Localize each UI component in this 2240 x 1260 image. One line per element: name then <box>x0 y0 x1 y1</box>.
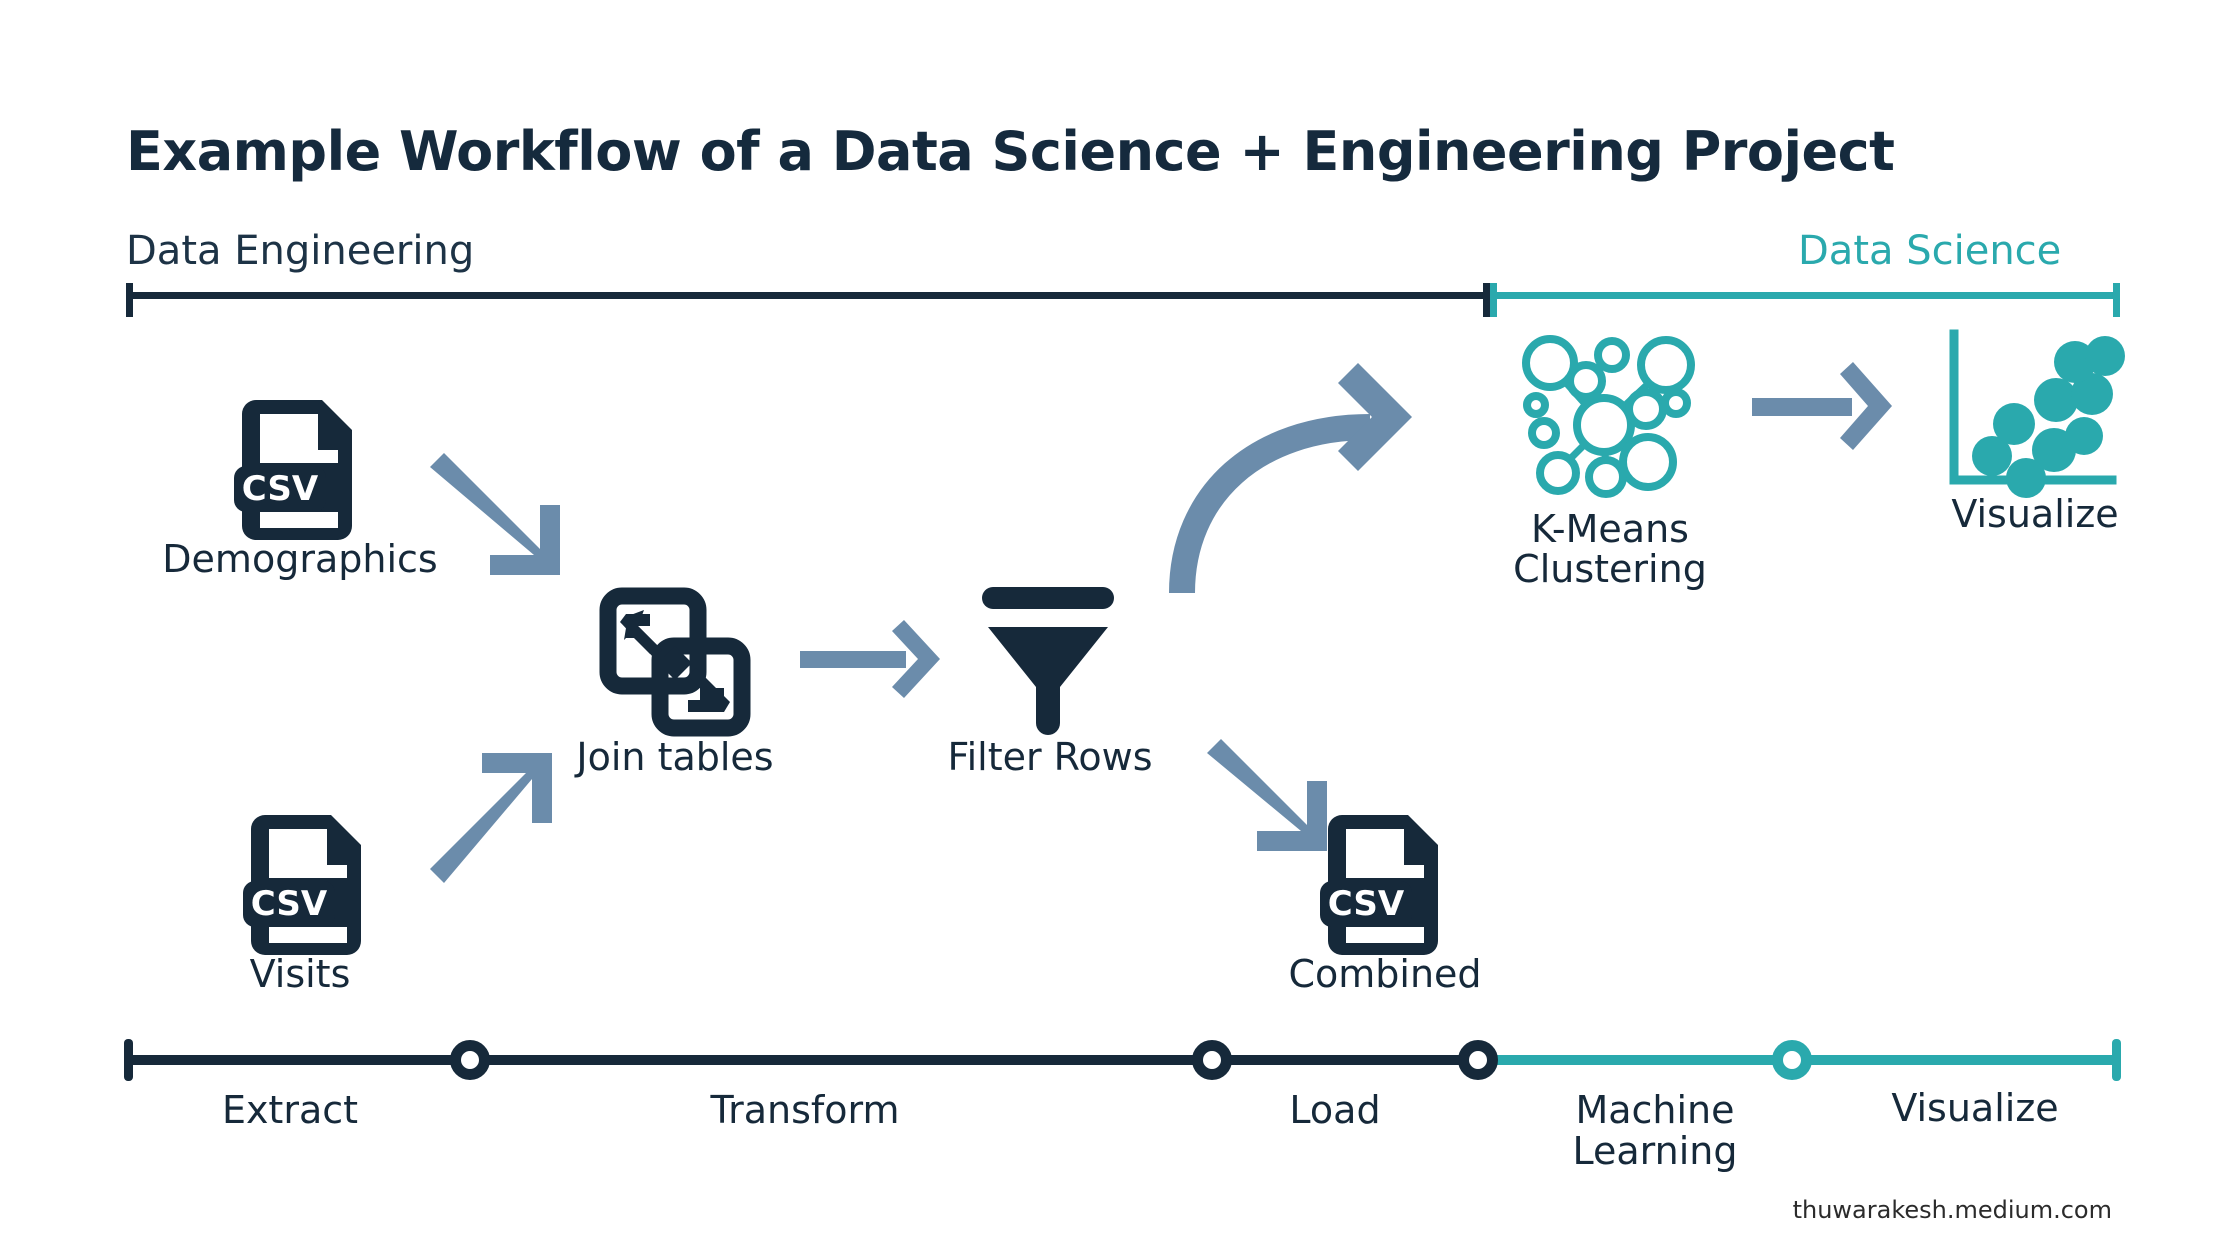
timeline-marker-transform-load[interactable] <box>1192 1040 1232 1080</box>
scatter-plot-icon <box>1944 328 2124 508</box>
csv-badge-text-visits: CSV <box>251 884 328 924</box>
csv-badge-text-combined: CSV <box>1328 884 1405 924</box>
funnel-icon <box>978 583 1118 733</box>
node-label-combined: Combined <box>1230 955 1540 995</box>
attribution-text: thuwarakesh.medium.com <box>1793 1196 2112 1224</box>
csv-file-icon-combined: CSV <box>1320 805 1450 955</box>
arrow-demographics-to-join <box>418 445 588 585</box>
join-tables-icon <box>600 588 750 738</box>
timeline-label-load: Load <box>1215 1090 1455 1131</box>
bracket-cap-engineering-left <box>126 283 133 317</box>
phase-label-data-engineering: Data Engineering <box>126 228 474 274</box>
timeline-label-visualize: Visualize <box>1830 1088 2120 1129</box>
arrow-kmeans-to-visualize <box>1752 368 1902 448</box>
timeline-label-transform: Transform <box>640 1090 970 1131</box>
arrow-join-to-filter <box>800 625 950 695</box>
timeline-label-extract: Extract <box>140 1090 440 1131</box>
bracket-cap-science-right <box>2113 283 2120 317</box>
node-label-visualize: Visualize <box>1900 495 2170 535</box>
node-label-filter-rows: Filter Rows <box>910 738 1190 778</box>
csv-file-icon-demographics: CSV <box>234 390 364 540</box>
timeline-segment-engineering <box>124 1055 1478 1065</box>
timeline-marker-load-ml[interactable] <box>1458 1040 1498 1080</box>
csv-badge-text-demographics: CSV <box>242 469 319 509</box>
timeline-marker-extract-transform[interactable] <box>450 1040 490 1080</box>
cluster-network-icon <box>1506 325 1706 510</box>
bracket-line-science <box>1490 292 2120 299</box>
phase-label-data-science: Data Science <box>1798 228 2061 274</box>
timeline-cap-right <box>2112 1039 2121 1081</box>
arrow-filter-to-kmeans-curved <box>1160 355 1470 605</box>
csv-file-icon-visits: CSV <box>243 805 373 955</box>
node-label-visits: Visits <box>160 955 440 995</box>
workflow-diagram: Example Workflow of a Data Science + Eng… <box>0 0 2240 1260</box>
bracket-cap-science-left <box>1490 283 1497 317</box>
timeline-marker-ml-visualize[interactable] <box>1772 1040 1812 1080</box>
timeline-label-machine-learning: Machine Learning <box>1505 1090 1805 1172</box>
node-label-join-tables: Join tables <box>530 738 820 778</box>
bracket-cap-engineering-right <box>1483 283 1490 317</box>
bracket-line-engineering <box>126 292 1490 299</box>
page-title: Example Workflow of a Data Science + Eng… <box>126 120 1894 183</box>
node-label-kmeans: K-Means Clustering <box>1460 510 1760 590</box>
